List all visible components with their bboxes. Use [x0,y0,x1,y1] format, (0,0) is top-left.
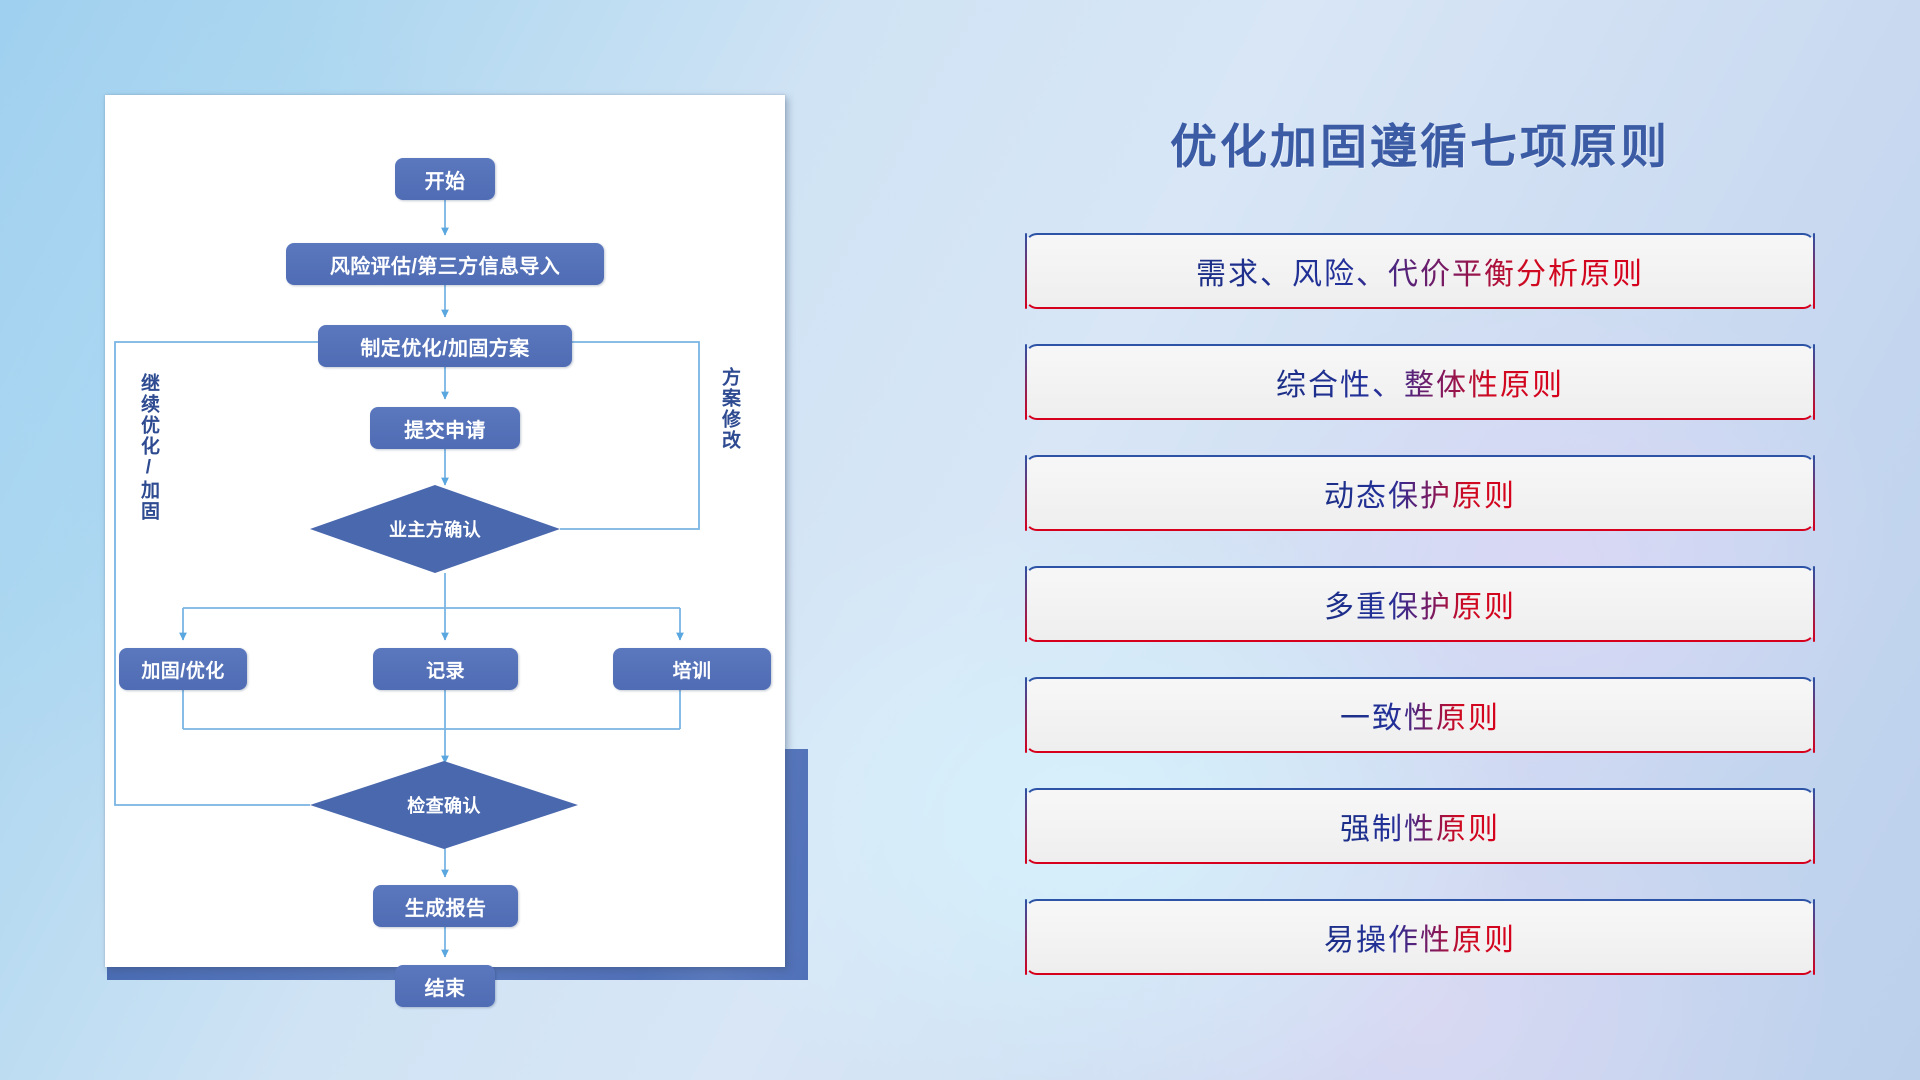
flow-node-end[interactable]: 结束 [395,965,495,1007]
flow-node-label: 制定优化/加固方案 [360,332,529,361]
flow-node-record[interactable]: 记录 [373,648,518,690]
principle-label: 动态保护原则 [1324,471,1516,515]
principle-item[interactable]: 多重保护原则 [1025,566,1815,642]
flow-node-label: 结束 [425,972,466,1001]
flow-node-submit[interactable]: 提交申请 [370,407,520,449]
flow-node-label: 检查确认 [407,792,481,818]
flow-node-reinforce[interactable]: 加固/优化 [119,648,247,690]
flowchart-card: 开始 风险评估/第三方信息导入 制定优化/加固方案 提交申请 业主方确认 加固/… [105,95,785,967]
flow-node-label: 加固/优化 [141,656,224,683]
edge-label-left-loop: 继续优化/加固 [138,373,158,522]
flow-node-risk-assessment[interactable]: 风险评估/第三方信息导入 [286,243,604,285]
flow-node-label: 提交申请 [404,414,486,443]
principle-label: 一致性原则 [1340,693,1500,737]
principle-label: 易操作性原则 [1324,915,1516,959]
flow-node-label: 记录 [426,656,465,683]
principle-item[interactable]: 综合性、整体性原则 [1025,344,1815,420]
principle-item[interactable]: 强制性原则 [1025,788,1815,864]
principle-item[interactable]: 需求、风险、代价平衡分析原则 [1025,233,1815,309]
principle-item[interactable]: 易操作性原则 [1025,899,1815,975]
principle-label: 强制性原则 [1340,804,1500,848]
slide-root: 开始 风险评估/第三方信息导入 制定优化/加固方案 提交申请 业主方确认 加固/… [0,0,1920,1080]
principle-label: 综合性、整体性原则 [1276,360,1564,404]
flow-node-owner-confirm[interactable]: 业主方确认 [310,485,560,573]
flow-node-label: 生成报告 [405,892,487,921]
flow-node-start[interactable]: 开始 [395,158,495,200]
edge-label-right-loop: 方案修改 [719,367,739,451]
flow-node-check-confirm[interactable]: 检查确认 [310,761,578,849]
flow-node-training[interactable]: 培训 [613,648,771,690]
principle-item[interactable]: 一致性原则 [1025,677,1815,753]
principle-item[interactable]: 动态保护原则 [1025,455,1815,531]
principles-panel: 优化加固遵循七项原则 需求、风险、代价平衡分析原则 综合性、整体性原则 动态保护… [920,0,1920,1080]
flow-node-label: 业主方确认 [389,516,481,542]
principle-label: 需求、风险、代价平衡分析原则 [1196,249,1644,293]
principles-title: 优化加固遵循七项原则 [920,108,1920,177]
flow-node-label: 培训 [673,656,712,683]
flowchart-panel: 开始 风险评估/第三方信息导入 制定优化/加固方案 提交申请 业主方确认 加固/… [0,0,920,1080]
flow-node-label: 开始 [425,165,466,194]
flow-node-report[interactable]: 生成报告 [373,885,518,927]
principle-label: 多重保护原则 [1324,582,1516,626]
flow-node-label: 风险评估/第三方信息导入 [330,250,560,279]
principles-list: 需求、风险、代价平衡分析原则 综合性、整体性原则 动态保护原则 多重保护原则 一… [1025,233,1815,1010]
flow-node-plan[interactable]: 制定优化/加固方案 [318,325,572,367]
